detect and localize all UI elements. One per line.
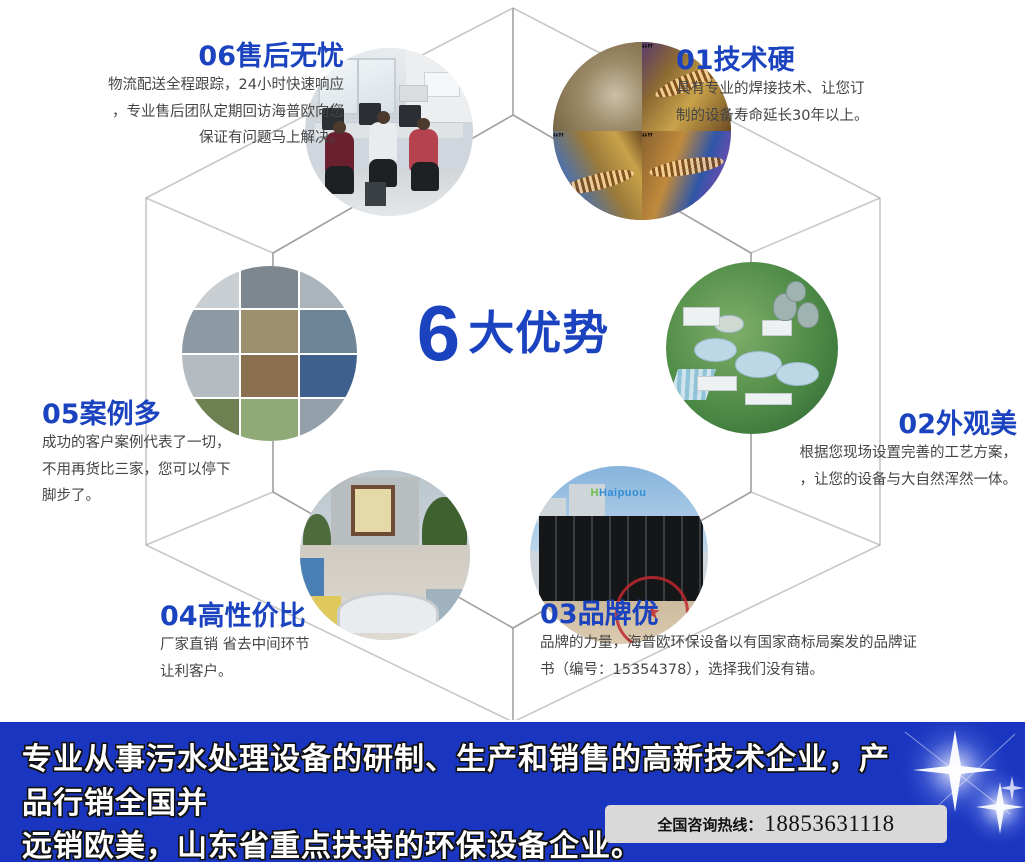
feature-02-title: 02外观美 — [742, 410, 1017, 440]
feature-06-title: 06售后无忧 — [14, 42, 344, 72]
center-word: 大优势 — [468, 310, 609, 356]
feature-03-body: 品牌的力量，海普欧环保设备以有国家商标局案发的品牌证 书（编号：15354378… — [540, 630, 940, 684]
feature-01-title: 01技术硬 — [676, 46, 1006, 76]
feature-02-text: 02外观美 根据您现场设置完善的工艺方案， ，让您的设备与大自然浑然一体。 — [742, 410, 1017, 493]
hotline-label: 全国咨询热线： — [657, 814, 762, 835]
six-advantages-infographic: 6 大优势 — [0, 0, 1025, 862]
hotline-number: 18853631118 — [764, 811, 894, 837]
feature-01-text: 01技术硬 具有专业的焊接技术、让您订 制的设备寿命延长30年以上。 — [676, 46, 1006, 129]
hotline-box[interactable]: 全国咨询热线： 18853631118 — [605, 805, 947, 843]
feature-05-body: 成功的客户案例代表了一切， 不用再货比三家，您可以停下 脚步了。 — [42, 430, 342, 510]
banner-headline: 专业从事污水处理设备的研制、生产和销售的高新技术企业，产品行销全国并 远销欧美，… — [22, 738, 892, 862]
feature-06-body: 物流配送全程跟踪，24小时快速响应 ，专业售后团队定期回访海普欧向您 保证有问题… — [14, 72, 344, 152]
feature-04-text: 04高性价比 厂家直销 省去中间环节 让利客户。 — [160, 602, 490, 685]
center-number: 6 — [417, 294, 458, 372]
feature-04-body: 厂家直销 省去中间环节 让利客户。 — [160, 632, 490, 686]
feature-05-text: 05案例多 成功的客户案例代表了一切， 不用再货比三家，您可以停下 脚步了。 — [42, 400, 342, 510]
feature-03-text: 03品牌优 品牌的力量，海普欧环保设备以有国家商标局案发的品牌证 书（编号：15… — [540, 600, 940, 683]
feature-04-title: 04高性价比 — [160, 602, 490, 632]
feature-06-text: 06售后无忧 物流配送全程跟踪，24小时快速响应 ，专业售后团队定期回访海普欧向… — [14, 42, 344, 152]
center-label: 6 大优势 — [388, 288, 638, 378]
feature-05-title: 05案例多 — [42, 400, 342, 430]
haipuou-logo: HHaipuou — [591, 487, 647, 499]
feature-02-body: 根据您现场设置完善的工艺方案， ，让您的设备与大自然浑然一体。 — [742, 440, 1017, 494]
feature-01-body: 具有专业的焊接技术、让您订 制的设备寿命延长30年以上。 — [676, 76, 1006, 130]
aerial-treatment-plant-photo — [666, 262, 838, 434]
feature-03-title: 03品牌优 — [540, 600, 940, 630]
